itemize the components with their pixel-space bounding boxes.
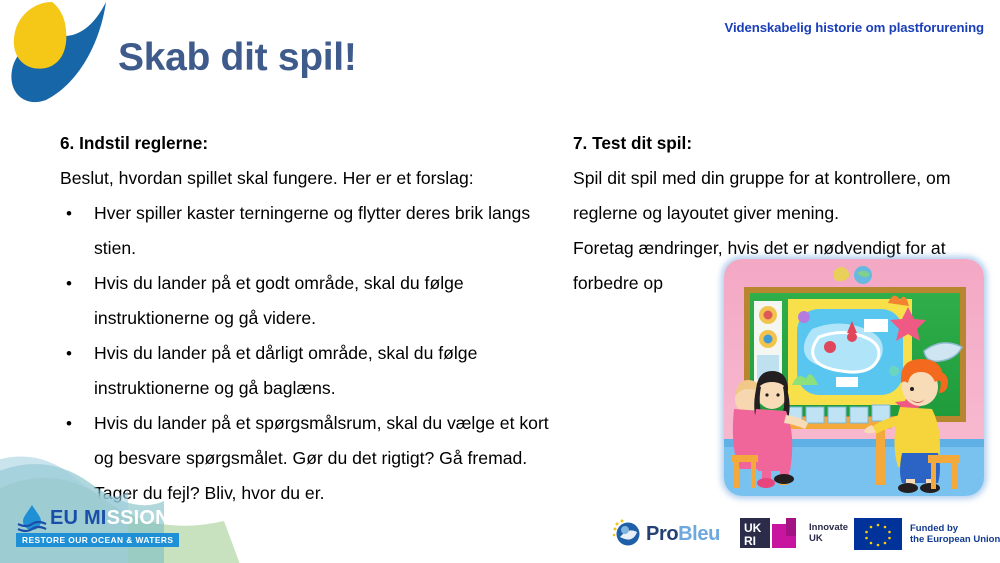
header-subject-note: Videnskabelig historie om plastforurenin… (725, 20, 984, 35)
list-item-label: Hvis du lander på et dårligt område, ska… (94, 343, 477, 398)
step-7-heading: 7. Test dit spil: (573, 126, 993, 161)
bullet-icon: • (66, 266, 72, 301)
probleu-wordmark-bleu: Bleu (678, 523, 720, 545)
eu-mission-wordmark: EU MISSION (50, 507, 170, 530)
probleu-wordmark: ProBleu (646, 523, 720, 546)
step-6-heading: 6. Indstil reglerne: (60, 126, 550, 161)
probleu-leaf-logo (4, 0, 108, 106)
funded-by-eu-label-line2: the European Union (910, 534, 1000, 545)
eu-mission-tagline: RESTORE OUR OCEAN & WATERS (16, 533, 179, 547)
list-item-label: Hvis du lander på et godt område, skal d… (94, 273, 464, 328)
water-drop-icon (14, 504, 50, 534)
list-item: • Hver spiller kaster terningerne og fly… (60, 196, 550, 266)
list-item-label: Hver spiller kaster terningerne og flytt… (94, 203, 530, 258)
innovate-uk-label-line2: UK (809, 533, 823, 544)
eu-mission-wordmark-visible: EU MI (50, 507, 107, 529)
funded-by-eu-label-line1: Funded by (910, 523, 958, 534)
rules-list: • Hver spiller kaster terningerne og fly… (60, 196, 550, 511)
svg-text:UK: UK (744, 521, 762, 535)
innovate-uk-ukri-logo: UK RI InnovateUK (740, 516, 848, 550)
funded-by-eu-label: Funded bythe European Union (910, 523, 1000, 546)
bullet-icon: • (66, 336, 72, 371)
footer-logo-strip: ProBleu UK RI InnovateUK (612, 516, 992, 556)
bullet-icon: • (66, 406, 72, 441)
innovate-uk-label: InnovateUK (809, 522, 848, 545)
list-item: • Hvis du lander på et godt område, skal… (60, 266, 550, 336)
page-title: Skab dit spil! (118, 36, 357, 80)
funded-by-eu-logo: Funded bythe European Union (854, 518, 1000, 550)
list-item: • Hvis du lander på et spørgsmålsrum, sk… (60, 406, 550, 511)
probleu-logo: ProBleu (612, 519, 720, 549)
innovate-uk-label-line1: Innovate (809, 522, 848, 533)
list-item-label: Hvis du lander på et spørgsmålsrum, skal… (94, 413, 549, 503)
probleu-wordmark-pro: Pro (646, 523, 678, 545)
list-item: • Hvis du lander på et dårligt område, s… (60, 336, 550, 406)
classroom-children-board-game-illustration (724, 259, 984, 496)
step-6-intro: Beslut, hvordan spillet skal fungere. He… (60, 161, 550, 196)
left-content-column: 6. Indstil reglerne: Beslut, hvordan spi… (60, 126, 550, 511)
probleu-globe-icon (612, 519, 642, 549)
svg-text:RI: RI (744, 534, 756, 548)
ukri-mark-icon: UK RI (740, 516, 802, 550)
bullet-icon: • (66, 196, 72, 231)
eu-mission-wordmark-obscured: SSION (107, 507, 170, 529)
eu-flag-icon (854, 518, 902, 550)
step-7-paragraph-1: Spil dit spil med din gruppe for at kont… (573, 161, 993, 231)
slide-canvas: Skab dit spil! Videnskabelig historie om… (0, 0, 1000, 563)
eu-mission-logo: EU MISSION RESTORE OUR OCEAN & WATERS (14, 503, 184, 555)
